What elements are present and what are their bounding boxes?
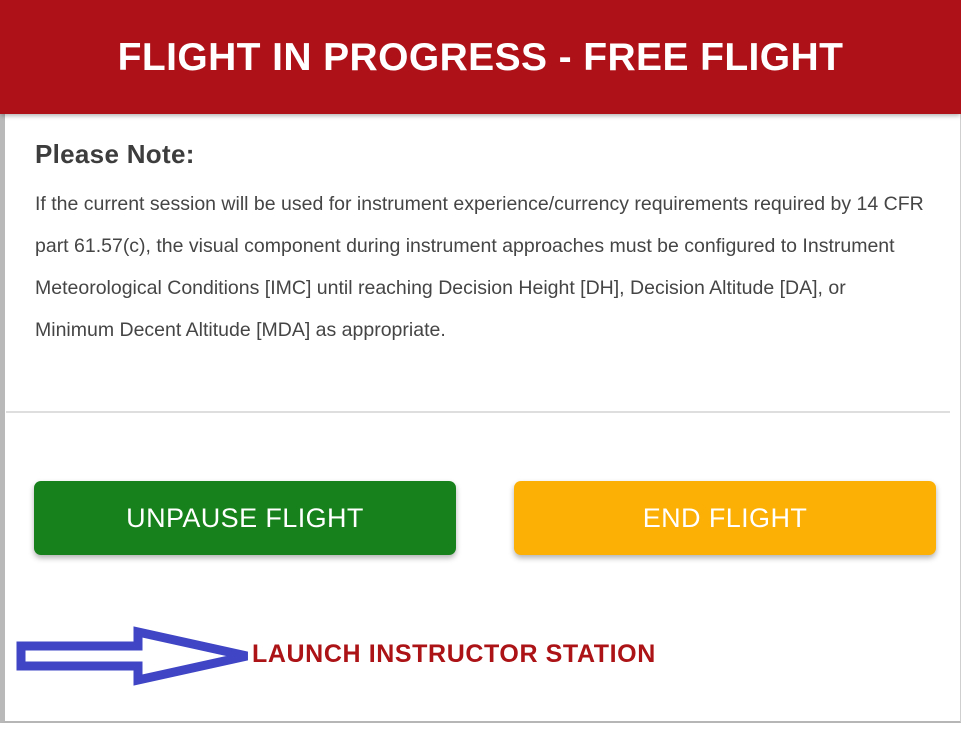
annotation-label: LAUNCH INSTRUCTOR STATION xyxy=(252,642,656,667)
app-screen: FLIGHT IN PROGRESS - FREE FLIGHT Please … xyxy=(0,0,961,729)
note-body-text: If the current session will be used for … xyxy=(35,183,925,351)
note-section: Please Note: If the current session will… xyxy=(5,114,956,351)
annotation-group: LAUNCH INSTRUCTOR STATION xyxy=(0,618,961,690)
note-heading: Please Note: xyxy=(35,140,926,169)
right-arrow-icon xyxy=(16,626,252,686)
section-divider xyxy=(6,411,950,413)
unpause-flight-button[interactable]: UNPAUSE FLIGHT xyxy=(34,481,456,555)
banner-title: FLIGHT IN PROGRESS - FREE FLIGHT xyxy=(118,38,844,77)
end-flight-button[interactable]: END FLIGHT xyxy=(514,481,936,555)
status-banner: FLIGHT IN PROGRESS - FREE FLIGHT xyxy=(0,0,961,114)
action-button-row: UNPAUSE FLIGHT END FLIGHT xyxy=(0,481,961,557)
